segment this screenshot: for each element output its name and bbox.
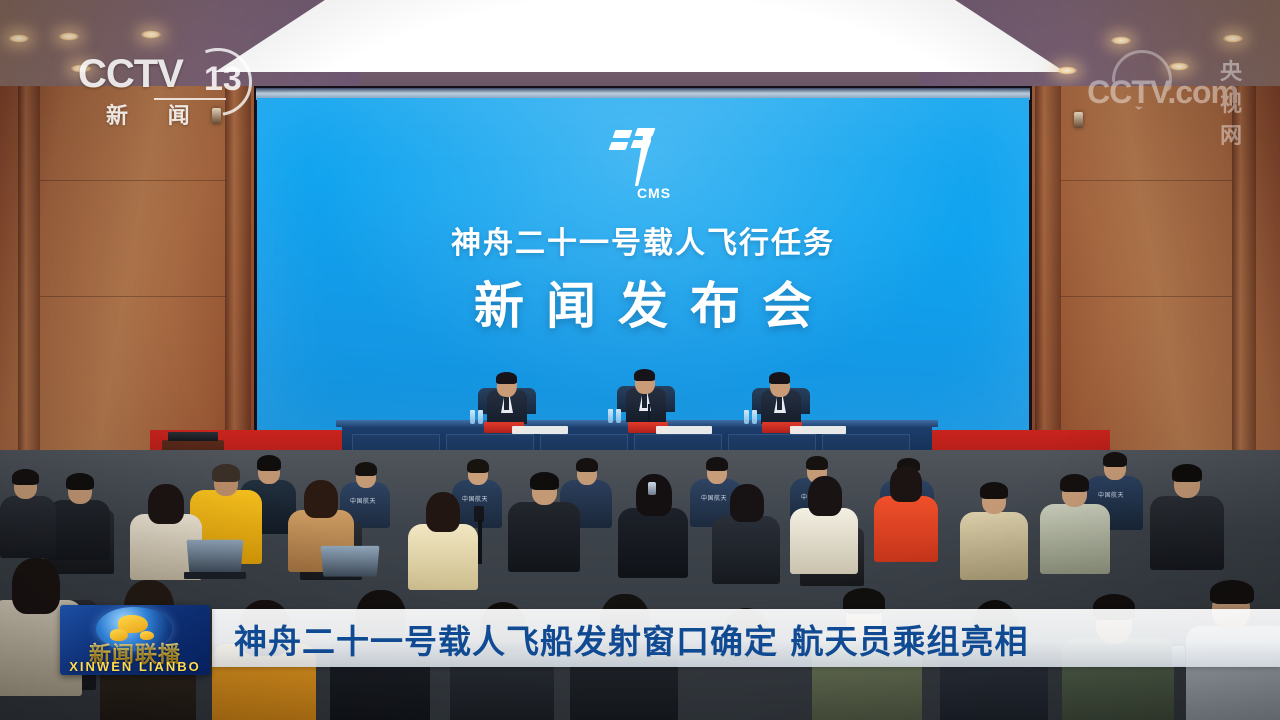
headline-text: 神舟二十一号载人飞船发射窗口确定 航天员乘组亮相	[234, 615, 1029, 663]
ceiling-light-panel	[215, 0, 1065, 72]
lower-third: 神舟二十一号载人飞船发射窗口确定 航天员乘组亮相 新闻联播 XINWEN LIA…	[60, 623, 1280, 675]
wall-seam	[40, 180, 226, 181]
ceiling-downlight	[1110, 36, 1132, 45]
water-bottle	[752, 410, 757, 424]
tripod	[478, 520, 482, 564]
water-bottle	[608, 409, 613, 423]
water-bottle	[470, 410, 475, 424]
channel-logo-number: 13	[204, 60, 242, 99]
laptop[interactable]	[187, 540, 244, 573]
wall-sensor-icon	[1074, 112, 1083, 128]
water-bottle	[616, 409, 621, 423]
audience-area: 中国航天 中国航天 中国航天 中国航天 中	[0, 450, 1280, 720]
water-bottle	[744, 410, 749, 424]
wall-pilaster	[1035, 86, 1061, 478]
ceiling-downlight	[1056, 66, 1078, 75]
ceiling-downlight	[1168, 62, 1190, 71]
wall-pilaster	[18, 86, 40, 478]
wall-seam	[1060, 296, 1232, 297]
watermark-en: CCTV.com	[1087, 74, 1238, 111]
ceiling-downlight	[140, 30, 162, 39]
wall-pilaster	[225, 86, 251, 478]
document-papers	[512, 426, 568, 434]
program-badge-en: XINWEN LIANBO	[60, 659, 210, 674]
wall-seam	[1060, 180, 1232, 181]
document-papers	[656, 426, 712, 434]
cabinet-equipment	[168, 432, 218, 441]
program-badge: 新闻联播 XINWEN LIANBO	[60, 605, 210, 675]
laptop[interactable]	[321, 546, 380, 577]
wall-seam	[40, 296, 226, 297]
ceiling-downlight	[8, 34, 30, 43]
water-bottle	[478, 410, 483, 424]
channel-logo: CCTV 13 新 闻	[78, 54, 258, 136]
headline-bar: 神舟二十一号载人飞船发射窗口确定 航天员乘组亮相	[212, 609, 1280, 667]
document-papers	[790, 426, 846, 434]
ceiling-downlight	[1222, 34, 1244, 43]
ceiling-downlight	[58, 32, 80, 41]
microphone	[648, 404, 650, 422]
smartphone[interactable]	[648, 482, 656, 495]
laptop-base	[184, 572, 246, 579]
broadcast-frame: CMS 神舟二十一号载人飞行任务 新闻发布会	[0, 0, 1280, 720]
